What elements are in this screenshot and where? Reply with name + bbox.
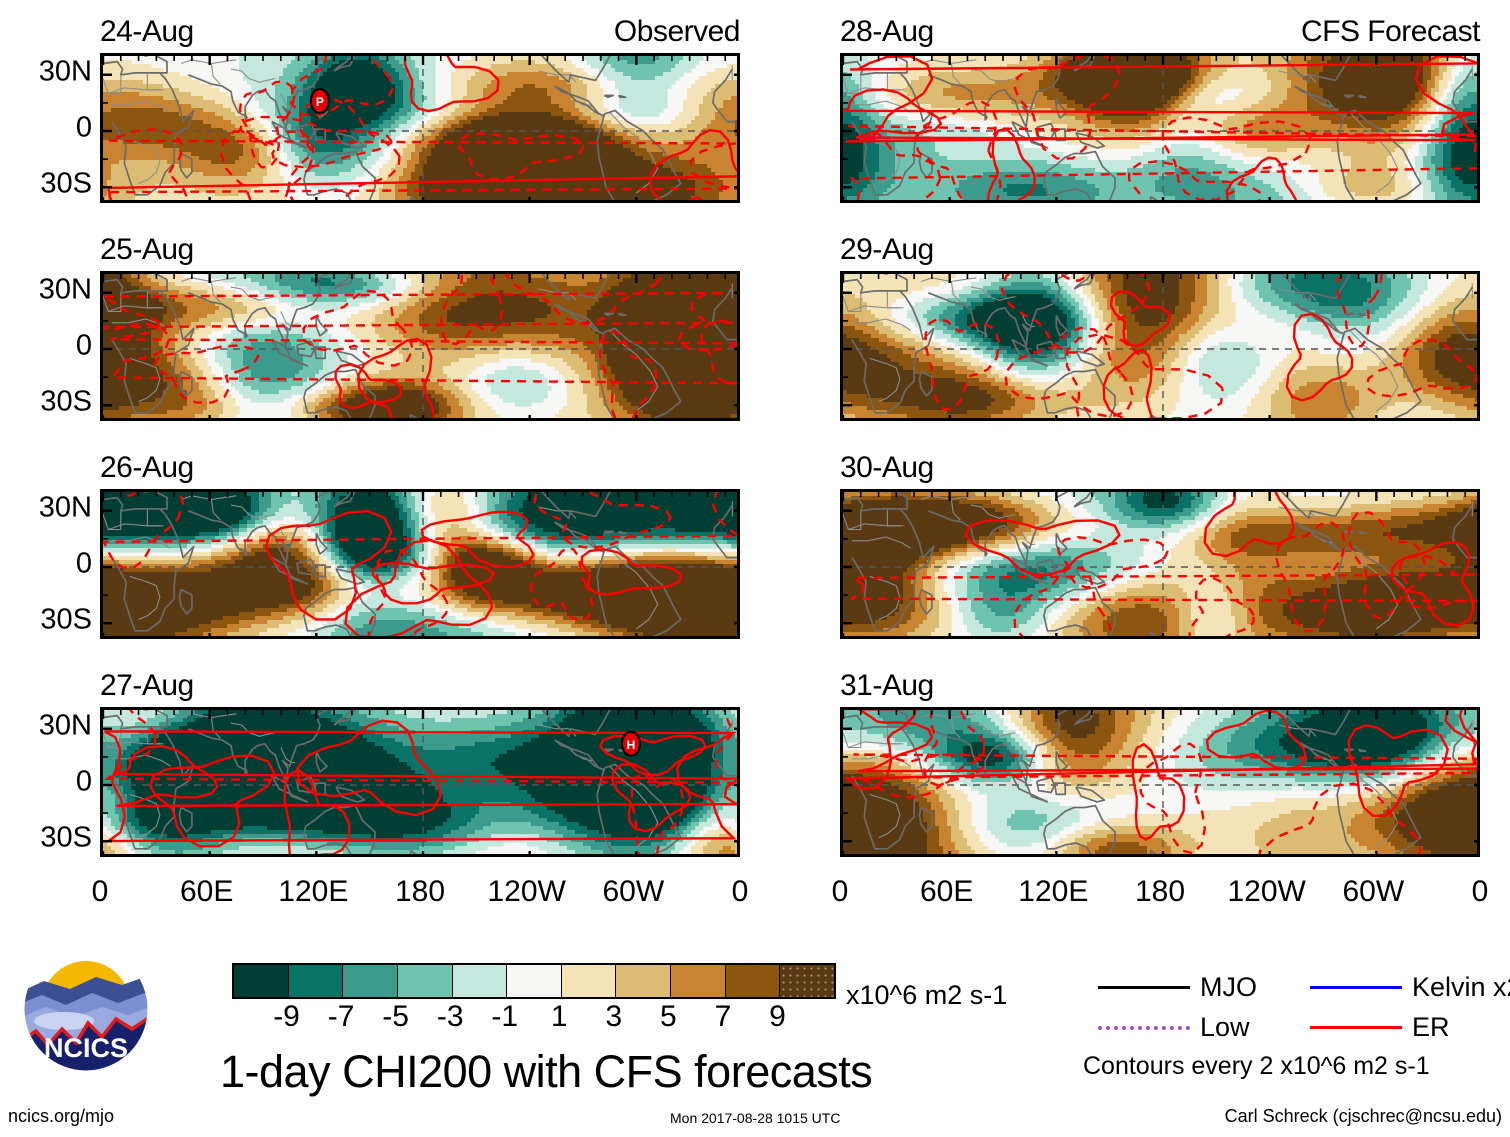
- colorbar-swatch: [507, 965, 562, 997]
- logo-text: NCICS: [44, 1033, 128, 1063]
- chart-plot-area: [100, 489, 740, 639]
- chart-plot-area: [100, 271, 740, 421]
- column-header-observed: Observed: [614, 15, 740, 49]
- colorbar-units-label: x10^6 m2 s-1: [846, 980, 1007, 1011]
- chart-plot-area: [840, 707, 1480, 857]
- ncics-logo: NCICS: [22, 945, 150, 1073]
- y-axis-tick-label: 30S: [0, 822, 92, 855]
- panel-date-label: 24-Aug: [100, 15, 194, 49]
- x-axis-tick-label: 180: [395, 875, 445, 909]
- y-axis-tick-label: 30N: [0, 491, 92, 524]
- x-axis-tick-label: 120E: [1018, 875, 1088, 909]
- colorbar: [232, 963, 836, 999]
- legend-item-kelvin-x2: Kelvin x2: [1310, 972, 1510, 1003]
- panel-date-label: 31-Aug: [840, 669, 934, 703]
- map-panel: 27-Aug H: [100, 707, 740, 857]
- map-panel: 28-AugCFS Forecast: [840, 53, 1480, 203]
- colorbar-tick-label: 9: [769, 1000, 786, 1034]
- colorbar-tick-label: -3: [437, 1000, 464, 1034]
- legend-line-swatch: [1310, 1026, 1402, 1029]
- colorbar-swatch: [671, 965, 726, 997]
- x-axis-tick-label: 0: [92, 875, 109, 909]
- colorbar-tick-label: 7: [715, 1000, 732, 1034]
- chart-plot-area: [840, 489, 1480, 639]
- panel-date-label: 26-Aug: [100, 451, 194, 485]
- colorbar-swatch: [562, 965, 617, 997]
- colorbar-tick-label: 1: [551, 1000, 568, 1034]
- colorbar-swatch: [616, 965, 671, 997]
- x-axis-tick-label: 60W: [602, 875, 664, 909]
- map-panel: 25-Aug: [100, 271, 740, 421]
- chart-plot-area: H: [100, 707, 740, 857]
- colorbar-swatch: [343, 965, 398, 997]
- x-axis-tick-label: 120W: [487, 875, 565, 909]
- y-axis-tick-label: 30S: [0, 168, 92, 201]
- figure-title: 1-day CHI200 with CFS forecasts: [220, 1046, 872, 1098]
- colorbar-tick-label: -9: [273, 1000, 300, 1034]
- legend-line-swatch: [1098, 986, 1190, 989]
- y-axis-tick-label: 30N: [0, 55, 92, 88]
- legend-item-er: ER: [1310, 1012, 1450, 1043]
- map-panel: 24-AugObserved P: [100, 53, 740, 203]
- legend-label: ER: [1412, 1012, 1450, 1043]
- x-axis-tick-label: 120E: [278, 875, 348, 909]
- panel-date-label: 28-Aug: [840, 15, 934, 49]
- chart-plot-area: [840, 53, 1480, 203]
- colorbar-tick-label: -7: [328, 1000, 355, 1034]
- colorbar-swatch: [234, 965, 289, 997]
- colorbar-swatch: [289, 965, 344, 997]
- panel-date-label: 27-Aug: [100, 669, 194, 703]
- colorbar-swatch: [453, 965, 508, 997]
- x-axis-tick-label: 60E: [920, 875, 973, 909]
- legend-label: Kelvin x2: [1412, 972, 1510, 1003]
- y-axis-tick-label: 30N: [0, 709, 92, 742]
- colorbar-swatch: [398, 965, 453, 997]
- y-axis-tick-label: 30N: [0, 273, 92, 306]
- footer-link[interactable]: ncics.org/mjo: [8, 1106, 114, 1127]
- footer-timestamp: Mon 2017-08-28 1015 UTC: [670, 1110, 840, 1126]
- x-axis-tick-label: 180: [1135, 875, 1185, 909]
- x-axis-tick-label: 120W: [1227, 875, 1305, 909]
- map-panel: 30-Aug: [840, 489, 1480, 639]
- legend-item-mjo: MJO: [1098, 972, 1257, 1003]
- contour-interval-note: Contours every 2 x10^6 m2 s-1: [1083, 1052, 1430, 1081]
- column-header-forecast: CFS Forecast: [1301, 15, 1480, 49]
- x-axis-tick-label: 60E: [180, 875, 233, 909]
- panel-date-label: 25-Aug: [100, 233, 194, 267]
- map-panel: 29-Aug: [840, 271, 1480, 421]
- colorbar-tick-label: 3: [605, 1000, 622, 1034]
- map-panel: 31-Aug: [840, 707, 1480, 857]
- colorbar-tick-label: -5: [382, 1000, 409, 1034]
- colorbar-swatch: [780, 965, 834, 997]
- colorbar-swatch: [726, 965, 781, 997]
- panel-date-label: 30-Aug: [840, 451, 934, 485]
- storm-marker: H: [622, 732, 640, 756]
- legend-line-swatch: [1098, 1026, 1190, 1030]
- storm-marker: P: [311, 89, 329, 113]
- legend-label: MJO: [1200, 972, 1257, 1003]
- y-axis-tick-label: 30S: [0, 386, 92, 419]
- legend-line-swatch: [1310, 986, 1402, 989]
- y-axis-tick-label: 0: [0, 766, 92, 799]
- legend-item-low: Low: [1098, 1012, 1250, 1043]
- colorbar-tick-label: 5: [660, 1000, 677, 1034]
- x-axis-tick-label: 60W: [1342, 875, 1404, 909]
- panel-date-label: 29-Aug: [840, 233, 934, 267]
- x-axis-tick-label: 0: [732, 875, 749, 909]
- colorbar-tick-label: -1: [491, 1000, 518, 1034]
- chart-plot-area: P: [100, 53, 740, 203]
- footer-author: Carl Schreck (cjschrec@ncsu.edu): [1225, 1106, 1502, 1127]
- y-axis-tick-label: 30S: [0, 604, 92, 637]
- x-axis-tick-label: 0: [832, 875, 849, 909]
- legend-label: Low: [1200, 1012, 1250, 1043]
- chart-plot-area: [840, 271, 1480, 421]
- y-axis-tick-label: 0: [0, 548, 92, 581]
- map-panel: 26-Aug: [100, 489, 740, 639]
- y-axis-tick-label: 0: [0, 112, 92, 145]
- y-axis-tick-label: 0: [0, 330, 92, 363]
- x-axis-tick-label: 0: [1472, 875, 1489, 909]
